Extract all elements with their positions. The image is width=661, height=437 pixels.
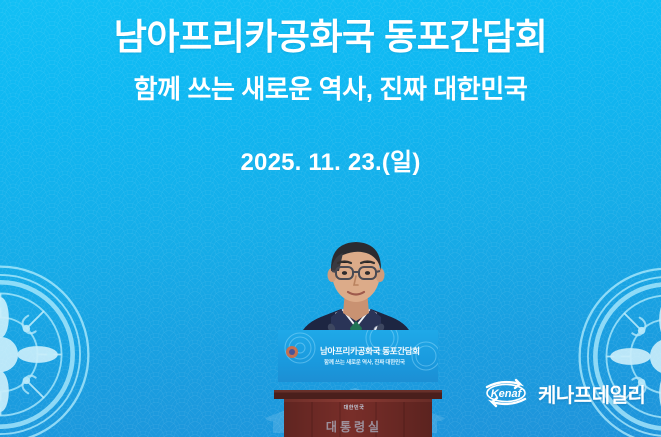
event-banner-photo: 남아프리카공화국 동포간담회 함께 쓰는 새로운 역사, 진짜 대한민국 202…	[0, 0, 661, 437]
watermark: Kenaf 케나프데일리	[480, 378, 645, 408]
lectern-office-label: 대통령실	[299, 418, 409, 435]
kenaf-logo-icon: Kenaf	[480, 378, 532, 408]
kenaf-logo-text: Kenaf	[491, 388, 523, 400]
watermark-text: 케나프데일리	[538, 379, 645, 408]
podium-banner-title: 남아프리카공화국 동포간담회	[320, 345, 420, 357]
event-date: 2025. 11. 23.(일)	[0, 142, 661, 177]
event-title: 남아프리카공화국 동포간담회	[0, 16, 661, 58]
lectern-nameplate: 대한민국	[310, 404, 398, 411]
event-subtitle: 함께 쓰는 새로운 역사, 진짜 대한민국	[0, 74, 661, 105]
korean-medallion-icon	[575, 264, 661, 437]
podium-banner: 남아프리카공화국 동포간담회 함께 쓰는 새로운 역사, 진짜 대한민국	[278, 330, 438, 382]
podium-banner-subtitle: 함께 쓰는 새로운 역사, 진짜 대한민국	[324, 358, 405, 366]
korean-medallion-icon	[0, 262, 93, 437]
headline-block: 남아프리카공화국 동포간담회 함께 쓰는 새로운 역사, 진짜 대한민국 202…	[0, 16, 661, 177]
podium: 남아프리카공화국 동포간담회 함께 쓰는 새로운 역사, 진짜 대한민국	[255, 330, 455, 437]
